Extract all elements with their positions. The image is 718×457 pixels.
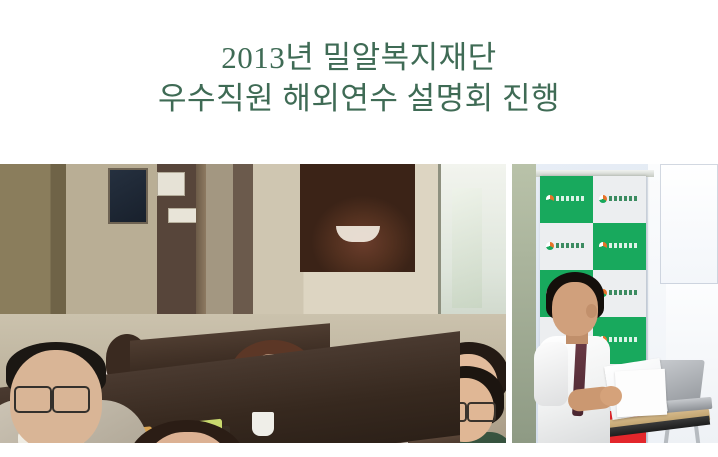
door-frame bbox=[196, 164, 206, 314]
logo-wordmark bbox=[609, 243, 639, 248]
logo-wordmark bbox=[609, 196, 639, 201]
organization-logo-icon bbox=[546, 241, 586, 250]
attendee-green-vest-glasses-right bbox=[467, 402, 496, 422]
banner-tile-green bbox=[540, 176, 593, 223]
presentation-room-window bbox=[660, 164, 718, 284]
title-line-1: 2013년 밀알복지재단 bbox=[0, 38, 718, 79]
page-title: 2013년 밀알복지재단 우수직원 해외연수 설명회 진행 bbox=[0, 38, 718, 120]
attendee-grey-jacket-glasses-right bbox=[52, 386, 90, 413]
logo-mark-icon bbox=[599, 242, 607, 250]
logo-mark-icon bbox=[546, 195, 554, 203]
presenter-ear bbox=[586, 304, 597, 318]
banner-tile-green bbox=[593, 223, 646, 270]
window-pane bbox=[452, 188, 482, 308]
organization-logo-icon bbox=[546, 194, 586, 203]
photo-right bbox=[512, 164, 718, 443]
wall-ac-control bbox=[157, 172, 185, 196]
presentation-room-side-wall bbox=[512, 164, 536, 443]
banner-tile-white bbox=[593, 176, 646, 223]
wall-picture-frame bbox=[108, 168, 148, 224]
logo-wordmark bbox=[556, 196, 586, 201]
presenter-sleeve bbox=[534, 342, 568, 406]
logo-wordmark bbox=[556, 243, 586, 248]
photo-left bbox=[0, 164, 506, 443]
attendee-grey-jacket-glasses-left bbox=[14, 386, 52, 413]
wall-poster bbox=[300, 164, 415, 272]
page-root: 2013년 밀알복지재단 우수직원 해외연수 설명회 진행 bbox=[0, 0, 718, 457]
logo-mark-icon bbox=[599, 195, 607, 203]
banner-tile-white bbox=[540, 223, 593, 270]
organization-logo-icon bbox=[599, 288, 639, 297]
room-wall bbox=[0, 164, 506, 334]
organization-logo-icon bbox=[599, 194, 639, 203]
logo-wordmark bbox=[609, 337, 639, 342]
organization-logo-icon bbox=[599, 241, 639, 250]
photo-strip bbox=[0, 164, 718, 443]
logo-wordmark bbox=[609, 290, 639, 295]
presenter-hand bbox=[600, 386, 622, 406]
presenter-papers-second-sheet bbox=[615, 369, 667, 418]
logo-mark-icon bbox=[546, 242, 554, 250]
title-line-2: 우수직원 해외연수 설명회 진행 bbox=[0, 79, 718, 120]
paper-cup bbox=[252, 412, 274, 436]
